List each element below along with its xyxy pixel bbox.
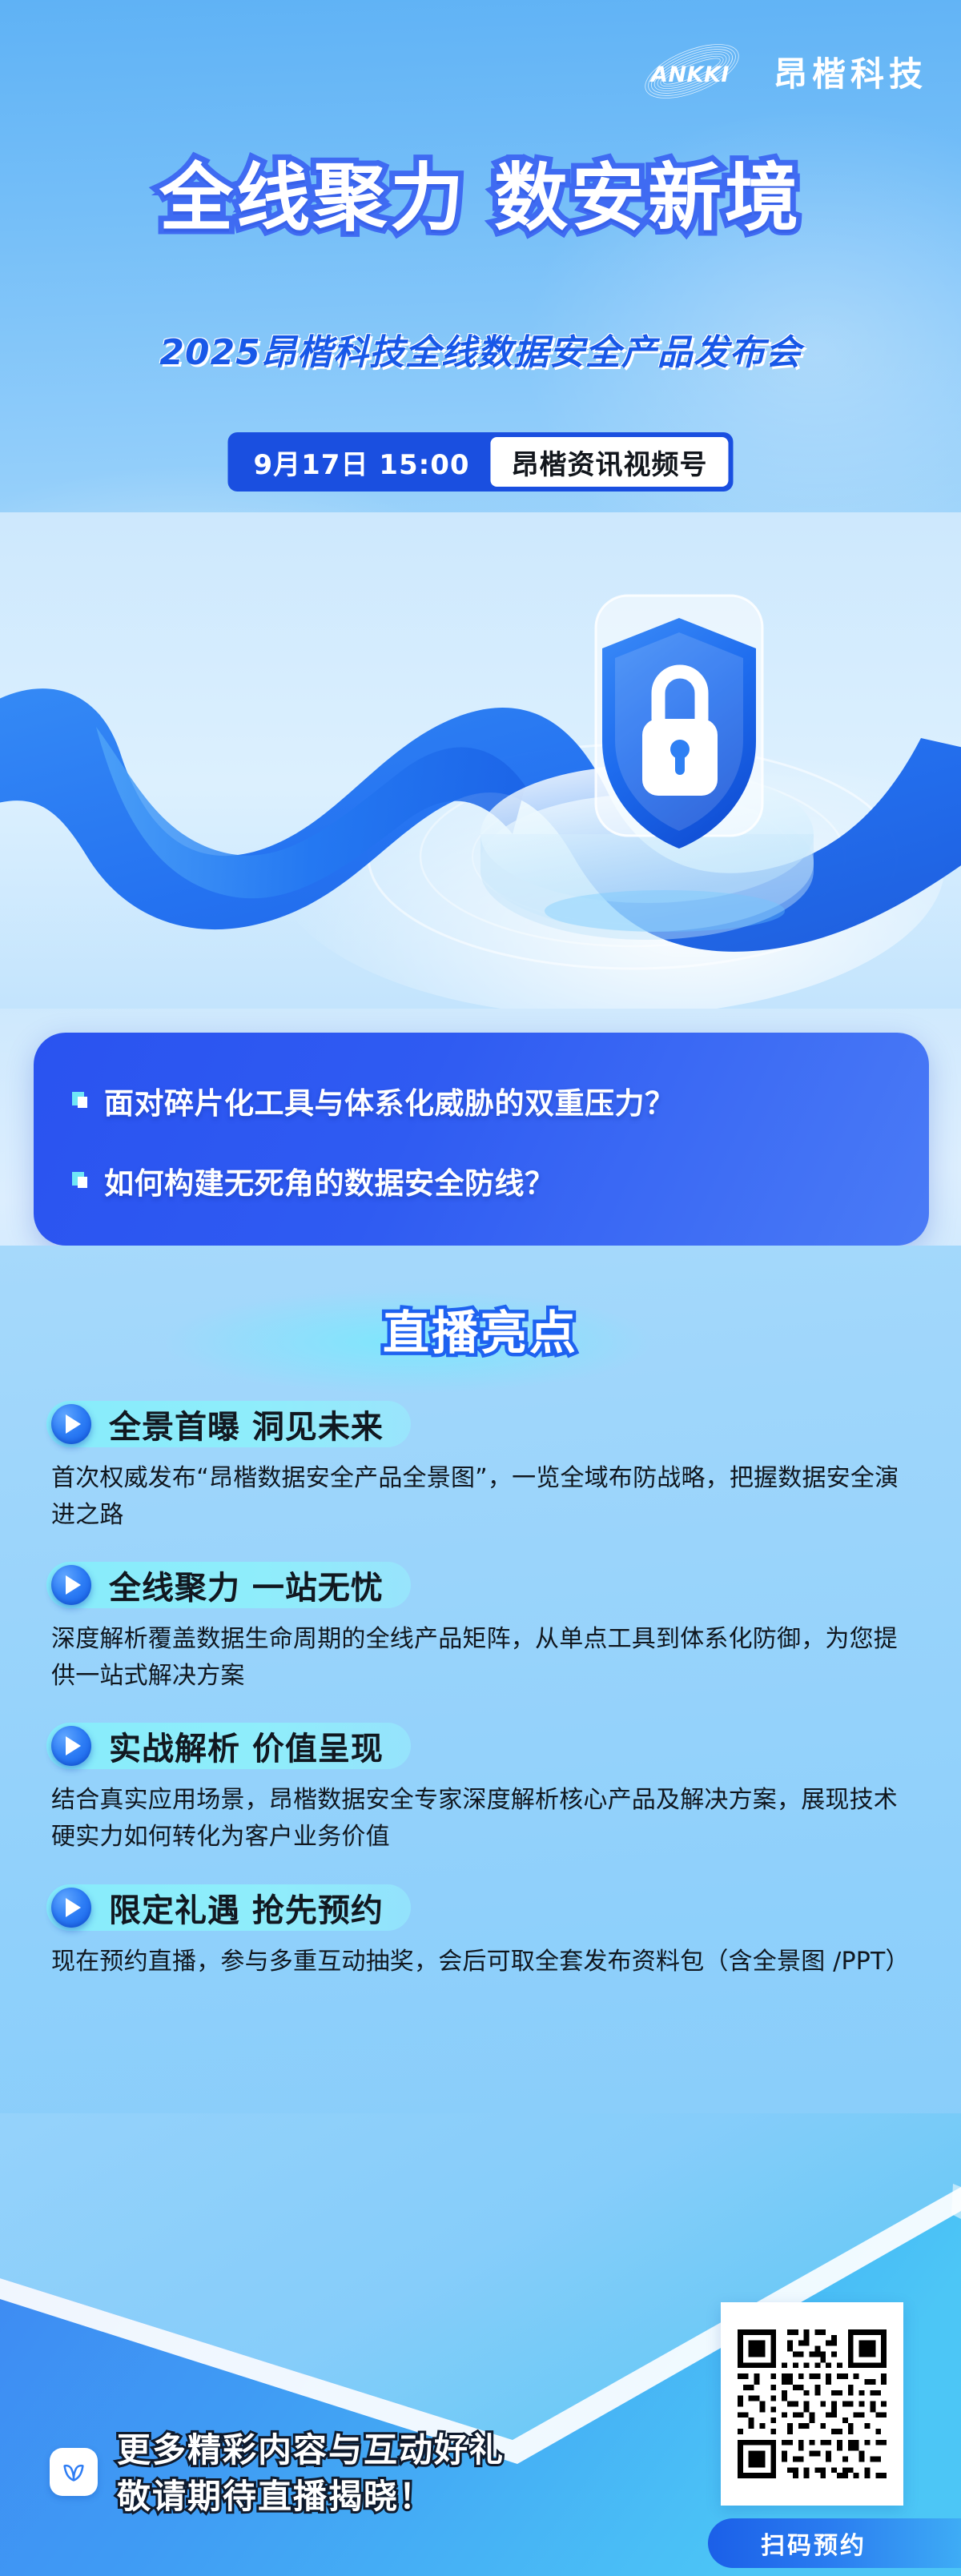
highlight-description: 首次权威发布“昂楷数据安全产品全景图”，一览全域布防战略，把握数据安全演进之路 xyxy=(46,1460,915,1533)
highlight-item: 实战解析 价值呈现 结合真实应用场景，昂楷数据安全专家深度解析核心产品及解决方案… xyxy=(46,1721,915,1855)
play-icon xyxy=(51,1565,91,1605)
brand-name-cn: 昂楷科技 xyxy=(774,47,927,96)
ankki-swoosh-icon: ANKKI xyxy=(628,37,756,106)
question-text: 面对碎片化工具与体系化威胁的双重压力？ xyxy=(104,1079,675,1122)
highlights-title: 直播亮点 xyxy=(0,1295,961,1362)
highlight-title: 全线聚力 一站无忧 xyxy=(109,1562,384,1608)
highlight-header: 限定礼遇 抢先预约 xyxy=(46,1883,411,1932)
question-text: 如何构建无死角的数据安全防线？ xyxy=(104,1159,555,1202)
bullet-square-icon xyxy=(72,1172,88,1190)
play-icon xyxy=(51,1404,91,1444)
highlight-title: 全景首曝 洞见未来 xyxy=(109,1401,384,1447)
question-card: 面对碎片化工具与体系化威胁的双重压力？ 如何构建无死角的数据安全防线？ xyxy=(34,1033,929,1246)
highlight-item: 全线聚力 一站无忧 深度解析覆盖数据生命周期的全线产品矩阵，从单点工具到体系化防… xyxy=(46,1560,915,1694)
highlight-header: 全线聚力 一站无忧 xyxy=(46,1560,411,1610)
highlights-list: 全景首曝 洞见未来 首次权威发布“昂楷数据安全产品全景图”，一览全域布防战略，把… xyxy=(0,1399,961,1980)
event-channel[interactable]: 昂楷资讯视频号 xyxy=(491,437,729,487)
wechat-channels-icon xyxy=(50,2448,98,2496)
highlight-description: 结合真实应用场景，昂楷数据安全专家深度解析核心产品及解决方案，展现技术硬实力如何… xyxy=(46,1782,915,1855)
hero-subtitle: 2025昂楷科技全线数据安全产品发布会 xyxy=(0,323,961,375)
footer-line-1: 更多精彩内容与互动好礼 xyxy=(117,2427,505,2474)
question-row: 面对碎片化工具与体系化威胁的双重压力？ xyxy=(34,1071,929,1130)
brand-logo: ANKKI 昂楷科技 xyxy=(628,37,927,106)
poster-root: ANKKI 昂楷科技 全线聚力数安新境 2025昂楷科技全线数据安全产品发布会 … xyxy=(0,0,961,2576)
event-badge[interactable]: 9月17日 15:00 昂楷资讯视频号 xyxy=(227,432,733,492)
highlight-title: 限定礼遇 抢先预约 xyxy=(109,1884,384,1931)
play-icon xyxy=(51,1726,91,1766)
highlight-description: 现在预约直播，参与多重互动抽奖，会后可取全套发布资料包（含全景图 /PPT） xyxy=(46,1944,915,1980)
hero-title-part1: 全线聚力 xyxy=(159,155,467,241)
highlight-item: 全景首曝 洞见未来 首次权威发布“昂楷数据安全产品全景图”，一览全域布防战略，把… xyxy=(46,1399,915,1533)
ankki-wordmark: ANKKI xyxy=(649,62,730,87)
footer-text: 更多精彩内容与互动好礼 敬请期待直播揭晓！ xyxy=(117,2427,505,2520)
hero-title: 全线聚力数安新境 xyxy=(0,157,961,239)
highlight-item: 限定礼遇 抢先预约 现在预约直播，参与多重互动抽奖，会后可取全套发布资料包（含全… xyxy=(46,1883,915,1980)
highlight-description: 深度解析覆盖数据生命周期的全线产品矩阵，从单点工具到体系化防御，为您提供一站式解… xyxy=(46,1621,915,1694)
event-datetime: 9月17日 15:00 xyxy=(232,437,490,487)
play-icon xyxy=(51,1888,91,1928)
hero-title-part2: 数安新境 xyxy=(494,155,802,241)
highlight-title: 实战解析 价值呈现 xyxy=(109,1723,384,1769)
footer: 更多精彩内容与互动好礼 敬请期待直播揭晓！ xyxy=(0,2409,961,2576)
highlights-panel: 直播亮点 全景首曝 洞见未来 首次权威发布“昂楷数据安全产品全景图”，一览全域布… xyxy=(0,1246,961,2245)
hero-illustration xyxy=(0,512,961,1009)
highlight-header: 实战解析 价值呈现 xyxy=(46,1721,411,1771)
bullet-square-icon xyxy=(72,1092,88,1109)
footer-line-2: 敬请期待直播揭晓！ xyxy=(117,2474,505,2520)
highlight-header: 全景首曝 洞见未来 xyxy=(46,1399,411,1449)
question-row: 如何构建无死角的数据安全防线？ xyxy=(34,1151,929,1210)
